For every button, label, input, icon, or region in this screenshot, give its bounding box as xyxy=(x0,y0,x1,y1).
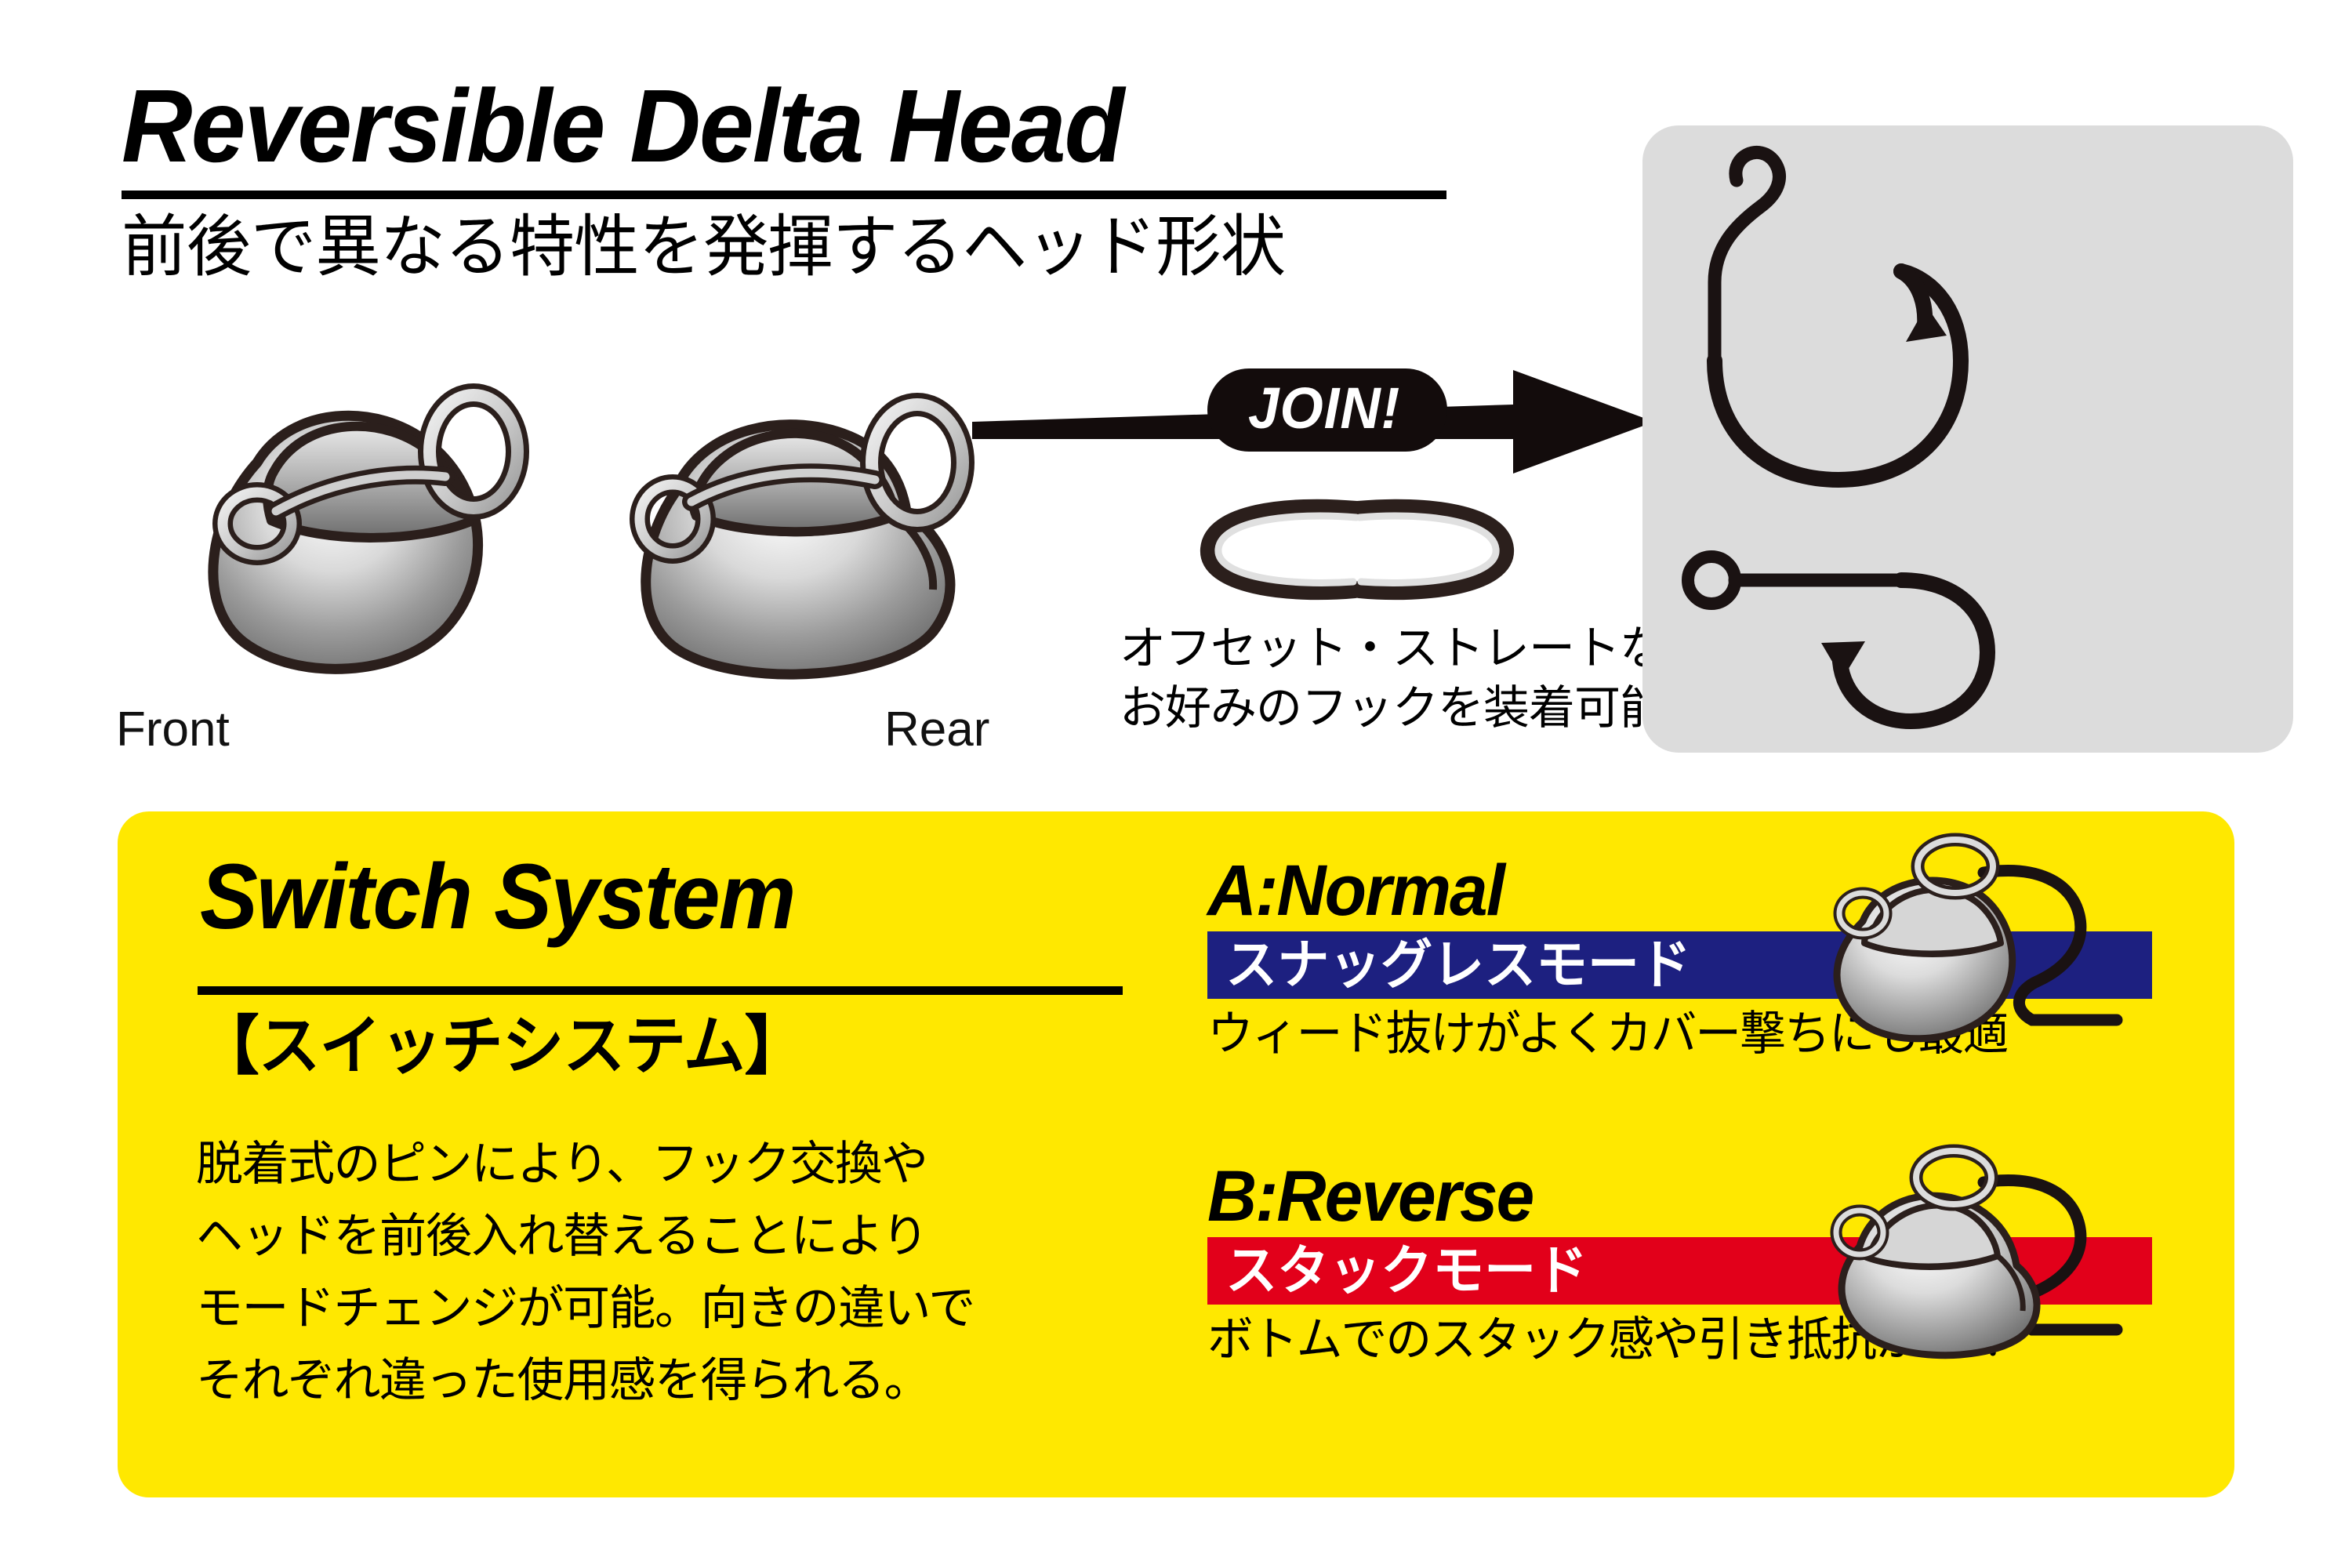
mode-a-head-illustration xyxy=(1788,827,2164,1062)
offset-hook-icon xyxy=(1715,152,1961,480)
jig-head-front-illustration xyxy=(157,314,564,706)
front-head-label: Front xyxy=(116,702,230,757)
hook-caption-line-1: オフセット・ストレートなど xyxy=(1120,619,1711,679)
rear-head-label: Rear xyxy=(884,702,989,757)
jig-head-rear-illustration xyxy=(580,314,1004,706)
snap-ring-icon xyxy=(1192,486,1521,612)
join-badge: JOIN! xyxy=(1207,368,1447,452)
join-badge-label: JOIN! xyxy=(1248,379,1400,437)
switch-system-underline xyxy=(198,986,1123,995)
infographic-page: Reversible Delta Head 前後で異なる特性を発揮するヘッド形状 xyxy=(0,0,2352,1568)
hook-compatibility-caption: オフセット・ストレートなど お好みのフックを装着可能！ xyxy=(1120,619,1711,738)
description-line-2: ヘッドを前後入れ替えることにより xyxy=(196,1201,975,1272)
title-underline xyxy=(122,191,1446,199)
mode-b-head-illustration xyxy=(1788,1137,2164,1372)
description-line-4: それぞれ違った使用感を得られる。 xyxy=(196,1345,975,1416)
switch-system-title: Switch System xyxy=(200,851,794,943)
mode-a-mode-label: スナッグレスモード xyxy=(1207,938,1691,992)
switch-system-title-jp: 【スイッチシステム】 xyxy=(198,1010,805,1083)
straight-hook-icon xyxy=(1688,557,1987,721)
page-subtitle: 前後で異なる特性を発揮するヘッド形状 xyxy=(122,212,1429,282)
header-block: Reversible Delta Head 前後で異なる特性を発揮するヘッド形状 xyxy=(122,74,1470,282)
page-title: Reversible Delta Head xyxy=(122,74,1403,178)
mode-b-mode-label: スタックモード xyxy=(1207,1244,1588,1298)
description-line-1: 脱着式のピンにより、フック交換や xyxy=(196,1129,975,1200)
hook-examples-panel xyxy=(1642,125,2293,753)
hook-caption-line-2: お好みのフックを装着可能！ xyxy=(1120,679,1711,739)
description-line-3: モードチェンジが可能。向きの違いで xyxy=(196,1273,975,1344)
switch-system-description: 脱着式のピンにより、フック交換や ヘッドを前後入れ替えることにより モードチェン… xyxy=(196,1129,975,1417)
